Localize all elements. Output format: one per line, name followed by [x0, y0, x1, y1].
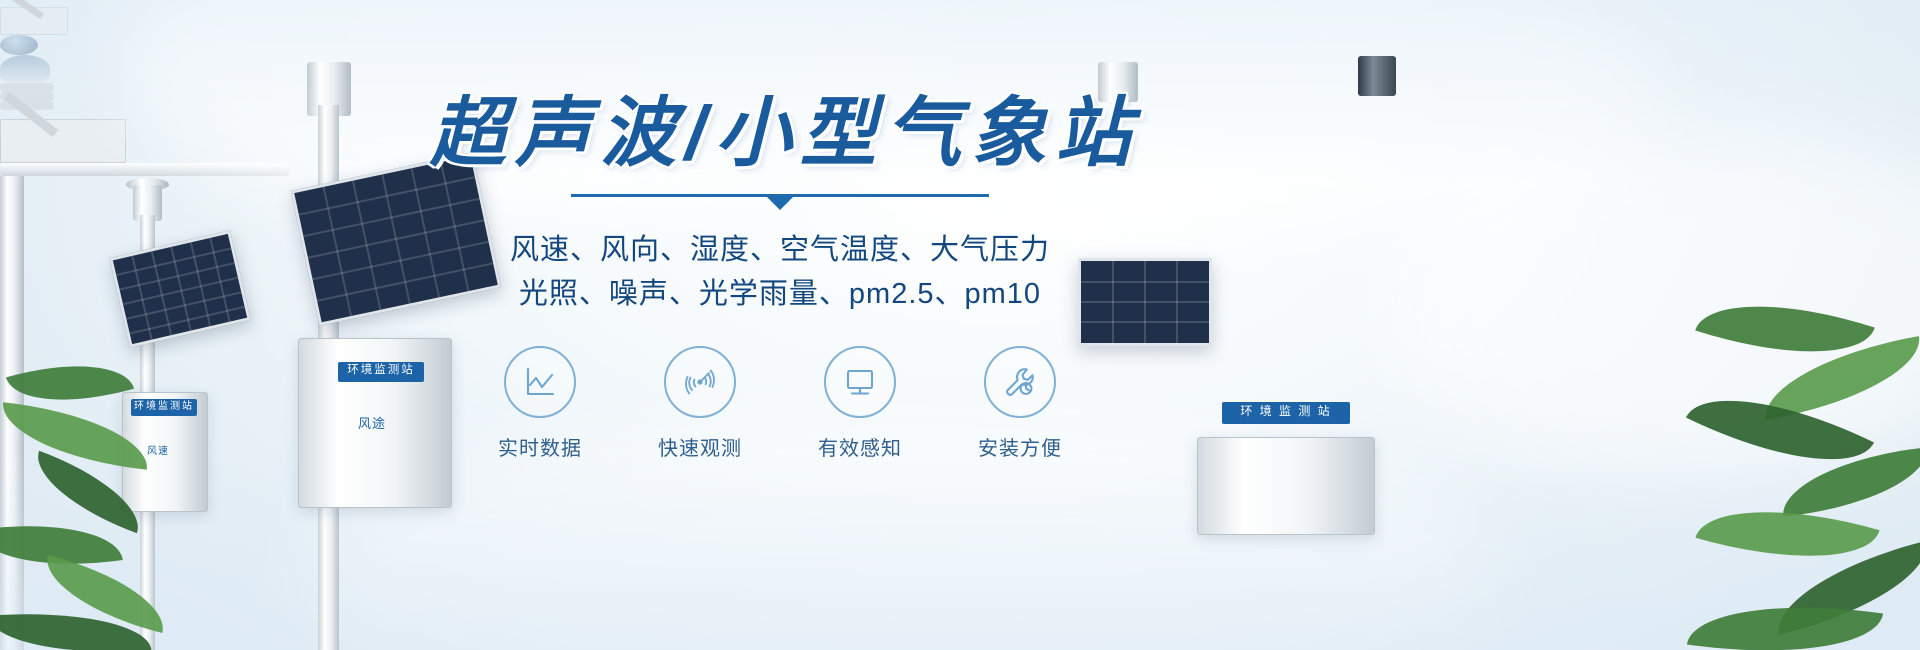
feature-label: 有效感知 [804, 432, 916, 461]
feature-icon-circle [984, 346, 1056, 418]
feature-icon-circle [504, 346, 576, 418]
banner-copy-block: 超声波/小型气象站 风速、风向、湿度、空气温度、大气压力 光照、噪声、光学雨量、… [430, 96, 1130, 496]
feature-item-fast-observation[interactable]: 快速观测 [644, 346, 756, 461]
brand-mark: 风速 [147, 442, 169, 457]
feature-list: 实时数据 快速观测 [430, 346, 1130, 461]
wrench-tool-icon [1001, 363, 1039, 401]
brand-mark: 风途 [358, 413, 386, 432]
station-label-badge: 环 境 监 测 站 [1222, 402, 1350, 424]
wind-vane-sensor [1358, 56, 1396, 96]
feature-item-effective-sensing[interactable]: 有效感知 [804, 346, 916, 461]
feature-label: 安装方便 [964, 432, 1076, 461]
feature-label: 快速观测 [644, 432, 756, 461]
feature-icon-circle [824, 346, 896, 418]
enclosure-box [1197, 437, 1375, 535]
title-divider [571, 194, 989, 210]
product-banner: 环境监测站 风速 环境监测站 风途 [0, 0, 1920, 650]
station-label-badge: 环境监测站 [338, 362, 424, 382]
feature-item-realtime-data[interactable]: 实时数据 [484, 346, 596, 461]
monitor-screen-icon [841, 363, 879, 401]
feature-label: 实时数据 [484, 432, 596, 461]
caret-down-icon [767, 197, 793, 210]
radar-scan-icon [681, 363, 719, 401]
line-chart-icon [521, 363, 559, 401]
station-label-badge: 环境监测站 [131, 399, 197, 416]
banner-subtitle-line-2: 光照、噪声、光学雨量、pm2.5、pm10 [430, 272, 1130, 316]
feature-icon-circle [664, 346, 736, 418]
banner-subtitle-line-1: 风速、风向、湿度、空气温度、大气压力 [430, 228, 1130, 272]
feature-item-easy-installation[interactable]: 安装方便 [964, 346, 1076, 461]
banner-title: 超声波/小型气象站 [430, 96, 1130, 172]
